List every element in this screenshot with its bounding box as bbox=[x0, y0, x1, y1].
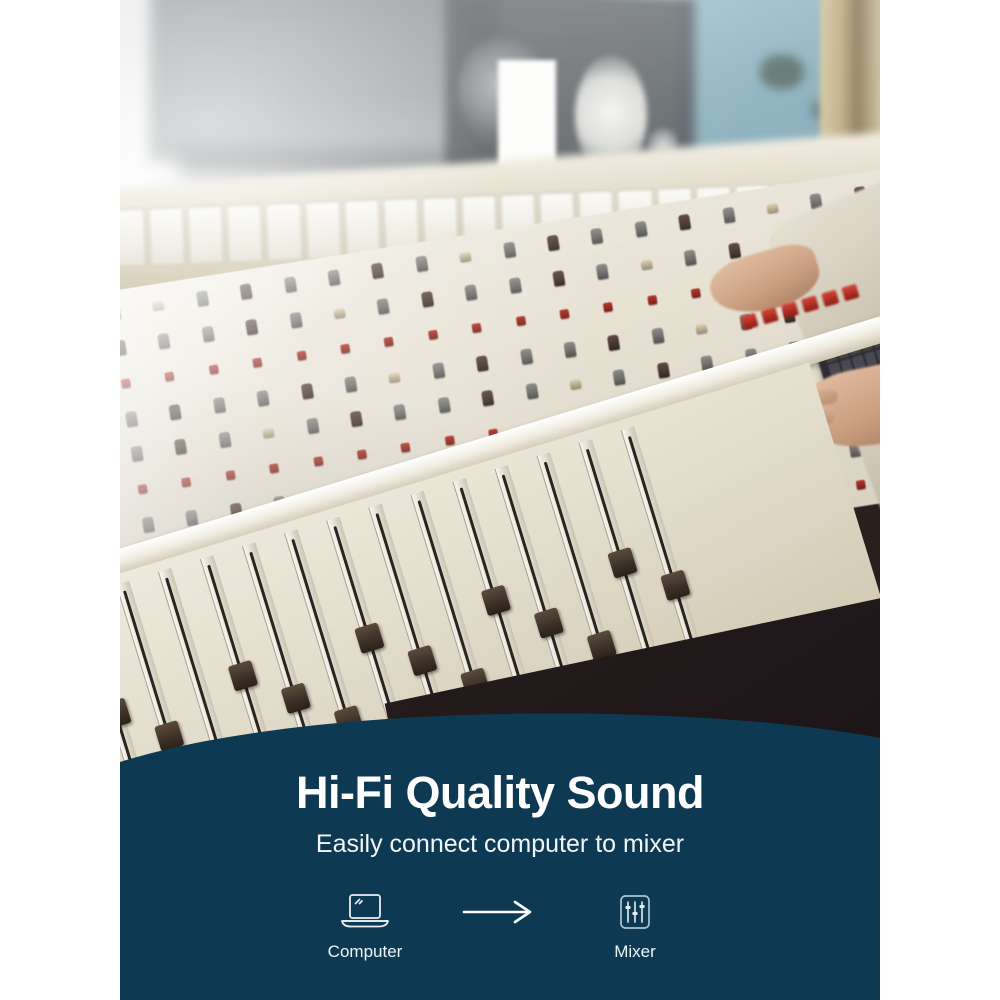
console-knob bbox=[389, 372, 401, 383]
console-knob bbox=[240, 284, 253, 301]
console-knob bbox=[169, 403, 182, 420]
console-knob bbox=[186, 509, 199, 526]
console-knob bbox=[613, 369, 626, 386]
caption-panel: Hi-Fi Quality Sound Easily connect compu… bbox=[120, 700, 880, 1000]
console-knob bbox=[182, 477, 192, 487]
console-knob bbox=[131, 446, 144, 463]
console-knob bbox=[252, 357, 262, 367]
console-knob bbox=[245, 319, 258, 336]
console-knob bbox=[607, 334, 620, 351]
laptop-icon bbox=[290, 888, 440, 936]
console-knob bbox=[525, 383, 538, 400]
console-knob bbox=[344, 376, 357, 393]
wall-texture-spot bbox=[760, 55, 804, 89]
console-knob bbox=[421, 291, 434, 308]
console-knob bbox=[296, 350, 306, 360]
console-knob bbox=[289, 312, 302, 329]
console-knob bbox=[357, 449, 367, 459]
console-knob bbox=[218, 432, 231, 449]
console-knob bbox=[371, 263, 384, 280]
console-knob bbox=[121, 378, 131, 388]
console-knob bbox=[313, 456, 323, 466]
console-knob bbox=[559, 309, 569, 319]
console-knob bbox=[722, 207, 735, 224]
console-knob bbox=[509, 277, 522, 294]
console-knob bbox=[328, 270, 341, 287]
flow-item-computer: Computer bbox=[290, 888, 440, 962]
console-knob bbox=[696, 323, 708, 334]
console-knob bbox=[142, 516, 155, 533]
console-knob bbox=[334, 308, 346, 319]
console-knob bbox=[158, 333, 171, 350]
console-knob bbox=[438, 397, 451, 414]
flow-item-mixer: Mixer bbox=[560, 888, 710, 962]
console-knob bbox=[202, 326, 215, 343]
console-knob bbox=[476, 355, 489, 372]
flow-label-mixer: Mixer bbox=[560, 942, 710, 962]
flow-label-computer: Computer bbox=[290, 942, 440, 962]
console-knob bbox=[547, 235, 560, 252]
console-knob bbox=[153, 300, 165, 311]
console-knob bbox=[570, 379, 582, 390]
console-knob bbox=[503, 242, 516, 259]
console-knob bbox=[767, 203, 779, 214]
console-knob bbox=[516, 316, 526, 326]
console-knob bbox=[460, 252, 472, 263]
console-knob bbox=[401, 443, 411, 453]
console-knob bbox=[377, 298, 390, 315]
console-knob bbox=[856, 479, 866, 489]
console-knob bbox=[684, 249, 697, 266]
console-knob bbox=[300, 383, 313, 400]
console-knob bbox=[257, 390, 270, 407]
console-knob bbox=[209, 364, 219, 374]
console-knob bbox=[394, 404, 407, 421]
console-knob bbox=[691, 288, 701, 298]
product-banner: Hi-Fi Quality Sound Easily connect compu… bbox=[0, 0, 1000, 1000]
arrow-right-icon bbox=[440, 888, 560, 936]
console-knob bbox=[428, 330, 438, 340]
console-knob bbox=[350, 411, 363, 428]
photo-card: Hi-Fi Quality Sound Easily connect compu… bbox=[120, 0, 880, 1000]
console-knob bbox=[120, 340, 127, 357]
console-knob bbox=[472, 323, 482, 333]
console-knob bbox=[564, 341, 577, 358]
console-knob bbox=[657, 362, 670, 379]
console-knob bbox=[125, 410, 138, 427]
console-knob bbox=[634, 221, 647, 238]
console-knob bbox=[552, 270, 565, 287]
console-knob bbox=[520, 348, 533, 365]
console-knob bbox=[465, 284, 478, 301]
console-knob bbox=[284, 277, 297, 294]
console-knob bbox=[641, 259, 653, 270]
page-subtitle: Easily connect computer to mixer bbox=[120, 832, 880, 857]
console-knob bbox=[415, 256, 428, 273]
console-knob bbox=[445, 436, 455, 446]
console-knob bbox=[306, 418, 319, 435]
page-title: Hi-Fi Quality Sound bbox=[120, 770, 880, 815]
console-knob bbox=[591, 228, 604, 245]
mixer-icon bbox=[560, 888, 710, 936]
console-knob bbox=[678, 214, 691, 231]
console-knob bbox=[603, 302, 613, 312]
console-knob bbox=[596, 263, 609, 280]
console-knob bbox=[213, 397, 226, 414]
console-knob bbox=[174, 439, 187, 456]
console-knob bbox=[196, 291, 209, 308]
console-knob bbox=[728, 243, 741, 260]
console-knob bbox=[225, 470, 235, 480]
console-knob bbox=[481, 390, 494, 407]
console-knob bbox=[263, 428, 275, 439]
console-knob bbox=[138, 484, 148, 494]
console-knob bbox=[269, 463, 279, 473]
console-knob bbox=[340, 343, 350, 353]
console-knob bbox=[120, 304, 121, 321]
console-knob bbox=[384, 337, 394, 347]
console-knob bbox=[651, 327, 664, 344]
console-knob bbox=[647, 295, 657, 305]
connection-flow-diagram: Computer bbox=[120, 888, 880, 962]
console-knob bbox=[165, 371, 175, 381]
console-knob bbox=[432, 362, 445, 379]
